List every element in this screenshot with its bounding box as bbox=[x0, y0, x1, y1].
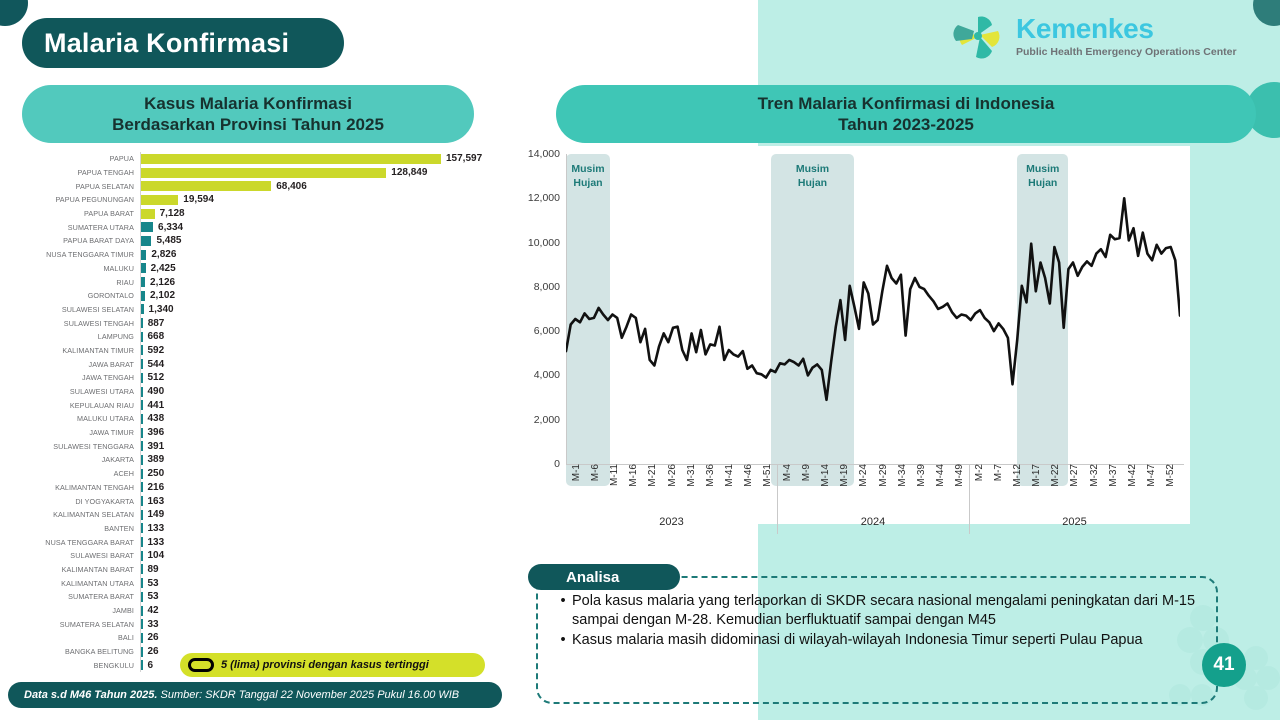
x-axis-tick-label: M-12 bbox=[1012, 464, 1023, 487]
bar-value-label: 104 bbox=[148, 550, 165, 561]
y-axis-tick-label: 0 bbox=[554, 458, 566, 470]
bullet-icon: • bbox=[554, 592, 572, 630]
province-bar-chart: PAPUA157,597PAPUA TENGAH128,849PAPUA SEL… bbox=[22, 152, 502, 680]
analysis-bullet: •Kasus malaria masih didominasi di wilay… bbox=[554, 631, 1196, 650]
left-chart-title-line2: Berdasarkan Provinsi Tahun 2025 bbox=[112, 114, 384, 135]
bar-fill bbox=[141, 660, 143, 670]
bar-fill bbox=[141, 373, 143, 383]
y-axis-tick-label: 2,000 bbox=[534, 414, 566, 426]
kemenkes-logo: Kemenkes Public Health Emergency Operati… bbox=[952, 8, 1252, 66]
bar-category-label: PAPUA SELATAN bbox=[22, 182, 140, 191]
x-axis-tick-label: M-49 bbox=[954, 464, 965, 487]
bar-value-label: 2,102 bbox=[150, 290, 175, 301]
oval-outline-icon bbox=[188, 658, 214, 672]
bar-category-label: JAWA TIMUR bbox=[22, 428, 140, 437]
bar-value-label: 389 bbox=[148, 454, 165, 465]
bar-row: BALI26 bbox=[22, 631, 502, 645]
x-axis-tick-label: M-44 bbox=[935, 464, 946, 487]
x-axis-tick-label: M-1 bbox=[571, 464, 582, 481]
bar-value-label: 6,334 bbox=[158, 222, 183, 233]
bar-category-label: KALIMANTAN UTARA bbox=[22, 579, 140, 588]
bar-row: DI YOGYAKARTA163 bbox=[22, 494, 502, 508]
analysis-list: •Pola kasus malaria yang terlaporkan di … bbox=[554, 592, 1196, 650]
bar-track: 391 bbox=[140, 439, 502, 453]
kemenkes-flower-icon bbox=[952, 11, 1008, 63]
footer-bold-text: Data s.d M46 Tahun 2025. bbox=[24, 689, 157, 701]
bar-category-label: SULAWESI UTARA bbox=[22, 387, 140, 396]
bar-row: SULAWESI BARAT104 bbox=[22, 549, 502, 563]
bar-track: 1,340 bbox=[140, 303, 502, 317]
bar-category-label: JAMBI bbox=[22, 606, 140, 615]
bar-track: 668 bbox=[140, 330, 502, 344]
bar-fill bbox=[141, 277, 145, 287]
bar-track: 149 bbox=[140, 508, 502, 522]
bar-fill bbox=[141, 564, 143, 574]
bar-row: MALUKU2,425 bbox=[22, 262, 502, 276]
bar-fill bbox=[141, 428, 143, 438]
bar-category-label: JAWA BARAT bbox=[22, 360, 140, 369]
bar-track: 133 bbox=[140, 522, 502, 536]
bar-row: SULAWESI UTARA490 bbox=[22, 385, 502, 399]
x-axis-year-group: 2024 bbox=[777, 516, 969, 528]
bar-value-label: 1,340 bbox=[149, 304, 174, 315]
bar-track: 438 bbox=[140, 412, 502, 426]
bar-fill bbox=[141, 222, 153, 232]
footer-source-text: Sumber: SKDR Tanggal 22 November 2025 Pu… bbox=[161, 689, 460, 701]
trend-line-path bbox=[566, 154, 1180, 464]
page-title-text: Malaria Konfirmasi bbox=[44, 28, 289, 59]
bar-value-label: 133 bbox=[148, 523, 165, 534]
analysis-label-pill: Analisa bbox=[528, 564, 680, 590]
bar-track: 5,485 bbox=[140, 234, 502, 248]
bar-fill bbox=[141, 510, 143, 520]
bar-value-label: 887 bbox=[148, 318, 165, 329]
bar-row: NUSA TENGGARA TIMUR2,826 bbox=[22, 248, 502, 262]
bar-category-label: BALI bbox=[22, 633, 140, 642]
bar-track: 396 bbox=[140, 426, 502, 440]
x-axis-tick-label: M-52 bbox=[1165, 464, 1176, 487]
x-axis-tick-label: M-34 bbox=[897, 464, 908, 487]
bar-category-label: SULAWESI TENGAH bbox=[22, 319, 140, 328]
x-axis-tick-label: M-11 bbox=[609, 464, 620, 486]
bar-category-label: KALIMANTAN BARAT bbox=[22, 565, 140, 574]
bar-value-label: 89 bbox=[148, 564, 159, 575]
y-axis-tick-label: 14,000 bbox=[528, 148, 566, 160]
right-chart-title: Tren Malaria Konfirmasi di Indonesia Tah… bbox=[556, 85, 1256, 143]
y-axis-tick-label: 6,000 bbox=[534, 325, 566, 337]
bar-value-label: 157,597 bbox=[446, 153, 482, 164]
bar-category-label: SULAWESI SELATAN bbox=[22, 305, 140, 314]
bar-fill bbox=[141, 318, 143, 328]
x-axis-tick-label: M-14 bbox=[820, 464, 831, 487]
bar-category-label: KEPULAUAN RIAU bbox=[22, 401, 140, 410]
bar-track: 250 bbox=[140, 467, 502, 481]
x-axis-tick-label: M-21 bbox=[647, 464, 658, 487]
bar-value-label: 68,406 bbox=[276, 181, 307, 192]
bar-fill bbox=[141, 332, 143, 342]
bar-row: JAWA TIMUR396 bbox=[22, 426, 502, 440]
bar-fill bbox=[141, 181, 271, 191]
left-chart-title-line1: Kasus Malaria Konfirmasi bbox=[144, 93, 352, 114]
bar-category-label: BANGKA BELITUNG bbox=[22, 647, 140, 656]
bar-value-label: 128,849 bbox=[391, 167, 427, 178]
x-axis-tick-label: M-41 bbox=[724, 464, 735, 487]
bar-fill bbox=[141, 592, 143, 602]
x-axis-tick-label: M-36 bbox=[705, 464, 716, 487]
analysis-bullet-text: Pola kasus malaria yang terlaporkan di S… bbox=[572, 592, 1196, 630]
x-axis-tick-label: M-42 bbox=[1127, 464, 1138, 487]
x-axis-tick-label: M-2 bbox=[974, 464, 985, 481]
bar-fill bbox=[141, 537, 143, 547]
bar-chart-legend: 5 (lima) provinsi dengan kasus tertinggi bbox=[180, 653, 485, 677]
x-axis-tick-label: M-24 bbox=[858, 464, 869, 487]
page-number-badge: 41 bbox=[1202, 643, 1246, 687]
bar-track: 133 bbox=[140, 535, 502, 549]
bar-fill bbox=[141, 551, 143, 561]
x-axis-tick-label: M-26 bbox=[667, 464, 678, 487]
trend-line-chart: 02,0004,0006,0008,00010,00012,00014,000M… bbox=[510, 146, 1190, 524]
bar-fill bbox=[141, 578, 143, 588]
bar-value-label: 26 bbox=[148, 632, 159, 643]
bar-row: JAWA TENGAH512 bbox=[22, 371, 502, 385]
x-axis-tick-label: M-6 bbox=[590, 464, 601, 481]
bullet-icon: • bbox=[554, 631, 572, 650]
x-axis-tick-label: M-29 bbox=[878, 464, 889, 487]
y-axis-tick-label: 10,000 bbox=[528, 237, 566, 249]
bar-value-label: 490 bbox=[148, 386, 165, 397]
legend-label: 5 (lima) provinsi dengan kasus tertinggi bbox=[221, 659, 429, 671]
bar-track: 544 bbox=[140, 357, 502, 371]
bar-value-label: 2,826 bbox=[151, 249, 176, 260]
bar-track: 68,406 bbox=[140, 179, 502, 193]
bar-fill bbox=[141, 647, 143, 657]
page-title: Malaria Konfirmasi bbox=[22, 18, 344, 68]
bar-value-label: 250 bbox=[148, 468, 165, 479]
x-axis-tick-label: M-46 bbox=[743, 464, 754, 487]
bar-row: PAPUA PEGUNUNGAN19,594 bbox=[22, 193, 502, 207]
bar-row: KALIMANTAN SELATAN149 bbox=[22, 508, 502, 522]
bar-track: 33 bbox=[140, 617, 502, 631]
bar-fill bbox=[141, 304, 144, 314]
bar-value-label: 26 bbox=[148, 646, 159, 657]
bar-value-label: 133 bbox=[148, 537, 165, 548]
bar-category-label: PAPUA TENGAH bbox=[22, 168, 140, 177]
bar-track: 490 bbox=[140, 385, 502, 399]
bar-value-label: 53 bbox=[148, 591, 159, 602]
bar-row: PAPUA157,597 bbox=[22, 152, 502, 166]
bar-value-label: 5,485 bbox=[156, 235, 181, 246]
x-axis-tick-label: M-7 bbox=[993, 464, 1004, 481]
bar-fill bbox=[141, 441, 143, 451]
bar-track: 216 bbox=[140, 481, 502, 495]
bar-row: SUMATERA BARAT53 bbox=[22, 590, 502, 604]
bar-fill bbox=[141, 400, 143, 410]
bar-row: KALIMANTAN TENGAH216 bbox=[22, 481, 502, 495]
bar-row: SULAWESI TENGGARA391 bbox=[22, 439, 502, 453]
bar-row: KEPULAUAN RIAU441 bbox=[22, 398, 502, 412]
bar-category-label: ACEH bbox=[22, 469, 140, 478]
bar-fill bbox=[141, 523, 143, 533]
bar-value-label: 391 bbox=[148, 441, 165, 452]
bar-row: PAPUA SELATAN68,406 bbox=[22, 179, 502, 193]
bar-row: BANTEN133 bbox=[22, 522, 502, 536]
bar-value-label: 6 bbox=[148, 660, 154, 671]
bar-category-label: DI YOGYAKARTA bbox=[22, 497, 140, 506]
bar-fill bbox=[141, 291, 145, 301]
bar-value-label: 216 bbox=[148, 482, 165, 493]
y-axis-tick-label: 8,000 bbox=[534, 281, 566, 293]
bar-fill bbox=[141, 496, 143, 506]
bar-row: JAKARTA389 bbox=[22, 453, 502, 467]
bar-category-label: PAPUA bbox=[22, 154, 140, 163]
bar-value-label: 149 bbox=[148, 509, 165, 520]
bar-fill bbox=[141, 482, 143, 492]
x-axis-tick-label: M-32 bbox=[1089, 464, 1100, 487]
bar-fill bbox=[141, 455, 143, 465]
x-axis-tick-label: M-22 bbox=[1050, 464, 1061, 487]
bar-track: 53 bbox=[140, 590, 502, 604]
bar-value-label: 7,128 bbox=[160, 208, 185, 219]
bar-category-label: JAKARTA bbox=[22, 455, 140, 464]
x-axis-tick-label: M-4 bbox=[782, 464, 793, 481]
bar-value-label: 512 bbox=[148, 372, 165, 383]
x-axis-tick-label: M-51 bbox=[762, 464, 773, 487]
bar-value-label: 438 bbox=[148, 413, 165, 424]
right-chart-title-line1: Tren Malaria Konfirmasi di Indonesia bbox=[758, 93, 1055, 114]
left-chart-title: Kasus Malaria Konfirmasi Berdasarkan Pro… bbox=[22, 85, 474, 143]
bar-fill bbox=[141, 345, 143, 355]
bar-fill bbox=[141, 209, 155, 219]
bar-row: LAMPUNG668 bbox=[22, 330, 502, 344]
bar-track: 89 bbox=[140, 563, 502, 577]
bar-track: 7,128 bbox=[140, 207, 502, 221]
bar-fill bbox=[141, 414, 143, 424]
bar-row: PAPUA TENGAH128,849 bbox=[22, 166, 502, 180]
bar-row: SULAWESI TENGAH887 bbox=[22, 316, 502, 330]
bar-row: KALIMANTAN TIMUR592 bbox=[22, 344, 502, 358]
bar-track: 157,597 bbox=[140, 152, 502, 166]
year-separator bbox=[777, 464, 778, 534]
bar-category-label: RIAU bbox=[22, 278, 140, 287]
bar-track: 2,826 bbox=[140, 248, 502, 262]
bar-value-label: 441 bbox=[148, 400, 165, 411]
bar-fill bbox=[141, 359, 143, 369]
bar-row: GORONTALO2,102 bbox=[22, 289, 502, 303]
bar-track: 26 bbox=[140, 631, 502, 645]
bar-track: 53 bbox=[140, 576, 502, 590]
bar-row: PAPUA BARAT7,128 bbox=[22, 207, 502, 221]
bar-category-label: SULAWESI TENGGARA bbox=[22, 442, 140, 451]
x-axis-tick-label: M-39 bbox=[916, 464, 927, 487]
bar-row: MALUKU UTARA438 bbox=[22, 412, 502, 426]
bar-fill bbox=[141, 469, 143, 479]
bar-value-label: 396 bbox=[148, 427, 165, 438]
bar-category-label: BENGKULU bbox=[22, 661, 140, 670]
bar-category-label: PAPUA BARAT bbox=[22, 209, 140, 218]
analysis-bullet: •Pola kasus malaria yang terlaporkan di … bbox=[554, 592, 1196, 630]
bar-fill bbox=[141, 236, 151, 246]
bar-track: 592 bbox=[140, 344, 502, 358]
x-axis-year-group: 2023 bbox=[566, 516, 777, 528]
bar-value-label: 2,126 bbox=[150, 277, 175, 288]
bar-value-label: 592 bbox=[148, 345, 165, 356]
bar-fill bbox=[141, 168, 386, 178]
x-axis-tick-label: M-19 bbox=[839, 464, 850, 487]
bar-value-label: 668 bbox=[148, 331, 165, 342]
bar-track: 2,126 bbox=[140, 275, 502, 289]
bar-fill bbox=[141, 619, 143, 629]
logo-tagline: Public Health Emergency Operations Cente… bbox=[1016, 46, 1237, 59]
bar-fill bbox=[141, 154, 441, 164]
decor-circle-top-left bbox=[0, 0, 28, 26]
bar-row: PAPUA BARAT DAYA5,485 bbox=[22, 234, 502, 248]
logo-name: Kemenkes bbox=[1016, 15, 1237, 43]
page-number: 41 bbox=[1213, 654, 1234, 676]
bar-track: 389 bbox=[140, 453, 502, 467]
bar-row: ACEH250 bbox=[22, 467, 502, 481]
bar-row: KALIMANTAN BARAT89 bbox=[22, 563, 502, 577]
bar-category-label: PAPUA BARAT DAYA bbox=[22, 236, 140, 245]
bar-value-label: 19,594 bbox=[183, 194, 214, 205]
x-axis-year-group: 2025 bbox=[969, 516, 1180, 528]
x-axis-tick-label: M-27 bbox=[1069, 464, 1080, 487]
bar-track: 2,102 bbox=[140, 289, 502, 303]
bar-track: 6,334 bbox=[140, 220, 502, 234]
analysis-label: Analisa bbox=[566, 569, 619, 586]
data-source-footer: Data s.d M46 Tahun 2025. Sumber: SKDR Ta… bbox=[8, 682, 502, 708]
bar-category-label: SUMATERA SELATAN bbox=[22, 620, 140, 629]
bar-category-label: NUSA TENGGARA BARAT bbox=[22, 538, 140, 547]
bar-value-label: 53 bbox=[148, 578, 159, 589]
bar-fill bbox=[141, 606, 143, 616]
year-separator bbox=[969, 464, 970, 534]
bar-track: 512 bbox=[140, 371, 502, 385]
x-axis-tick-label: M-17 bbox=[1031, 464, 1042, 487]
line-chart-plot-area: 02,0004,0006,0008,00010,00012,00014,000M… bbox=[566, 154, 1180, 464]
bar-row: RIAU2,126 bbox=[22, 275, 502, 289]
bar-category-label: KALIMANTAN SELATAN bbox=[22, 510, 140, 519]
bar-value-label: 33 bbox=[148, 619, 159, 630]
bar-track: 2,425 bbox=[140, 262, 502, 276]
bar-row: SUMATERA UTARA6,334 bbox=[22, 220, 502, 234]
bar-row: JAMBI42 bbox=[22, 604, 502, 618]
bar-track: 128,849 bbox=[140, 166, 502, 180]
bar-track: 19,594 bbox=[140, 193, 502, 207]
bar-fill bbox=[141, 387, 143, 397]
bar-fill bbox=[141, 250, 146, 260]
bar-value-label: 163 bbox=[148, 496, 165, 507]
bar-category-label: LAMPUNG bbox=[22, 332, 140, 341]
x-axis-labels: M-1M-6M-11M-16M-21M-26M-31M-36M-41M-46M-… bbox=[566, 464, 1180, 516]
bar-category-label: KALIMANTAN TIMUR bbox=[22, 346, 140, 355]
bar-track: 887 bbox=[140, 316, 502, 330]
y-axis-tick-label: 12,000 bbox=[528, 192, 566, 204]
x-axis-tick-label: M-37 bbox=[1108, 464, 1119, 487]
bar-track: 163 bbox=[140, 494, 502, 508]
bar-row: JAWA BARAT544 bbox=[22, 357, 502, 371]
bar-fill bbox=[141, 633, 143, 643]
bar-fill bbox=[141, 195, 178, 205]
bar-row: NUSA TENGGARA BARAT133 bbox=[22, 535, 502, 549]
bar-category-label: NUSA TENGGARA TIMUR bbox=[22, 250, 140, 259]
x-axis-tick-label: M-9 bbox=[801, 464, 812, 481]
bar-category-label: SUMATERA BARAT bbox=[22, 592, 140, 601]
bar-category-label: JAWA TENGAH bbox=[22, 373, 140, 382]
bar-row: SUMATERA SELATAN33 bbox=[22, 617, 502, 631]
bar-category-label: SULAWESI BARAT bbox=[22, 551, 140, 560]
x-axis-tick-label: M-47 bbox=[1146, 464, 1157, 487]
bar-category-label: KALIMANTAN TENGAH bbox=[22, 483, 140, 492]
bar-value-label: 544 bbox=[148, 359, 165, 370]
y-axis-tick-label: 4,000 bbox=[534, 369, 566, 381]
bar-category-label: PAPUA PEGUNUNGAN bbox=[22, 195, 140, 204]
bar-category-label: BANTEN bbox=[22, 524, 140, 533]
bar-row: SULAWESI SELATAN1,340 bbox=[22, 303, 502, 317]
right-chart-title-line2: Tahun 2023-2025 bbox=[838, 114, 974, 135]
bar-category-label: GORONTALO bbox=[22, 291, 140, 300]
slide: Malaria Konfirmasi Kasus Malaria Konfirm… bbox=[0, 0, 1280, 720]
bar-track: 441 bbox=[140, 398, 502, 412]
bar-track: 42 bbox=[140, 604, 502, 618]
bar-category-label: SUMATERA UTARA bbox=[22, 223, 140, 232]
analysis-bullet-text: Kasus malaria masih didominasi di wilaya… bbox=[572, 631, 1143, 650]
bar-value-label: 2,425 bbox=[151, 263, 176, 274]
bar-track: 104 bbox=[140, 549, 502, 563]
analysis-box: •Pola kasus malaria yang terlaporkan di … bbox=[536, 576, 1218, 704]
bar-fill bbox=[141, 263, 146, 273]
bar-row: KALIMANTAN UTARA53 bbox=[22, 576, 502, 590]
bar-category-label: MALUKU bbox=[22, 264, 140, 273]
x-axis-tick-label: M-31 bbox=[686, 464, 697, 487]
bar-category-label: MALUKU UTARA bbox=[22, 414, 140, 423]
x-axis-tick-label: M-16 bbox=[628, 464, 639, 487]
bar-value-label: 42 bbox=[148, 605, 159, 616]
